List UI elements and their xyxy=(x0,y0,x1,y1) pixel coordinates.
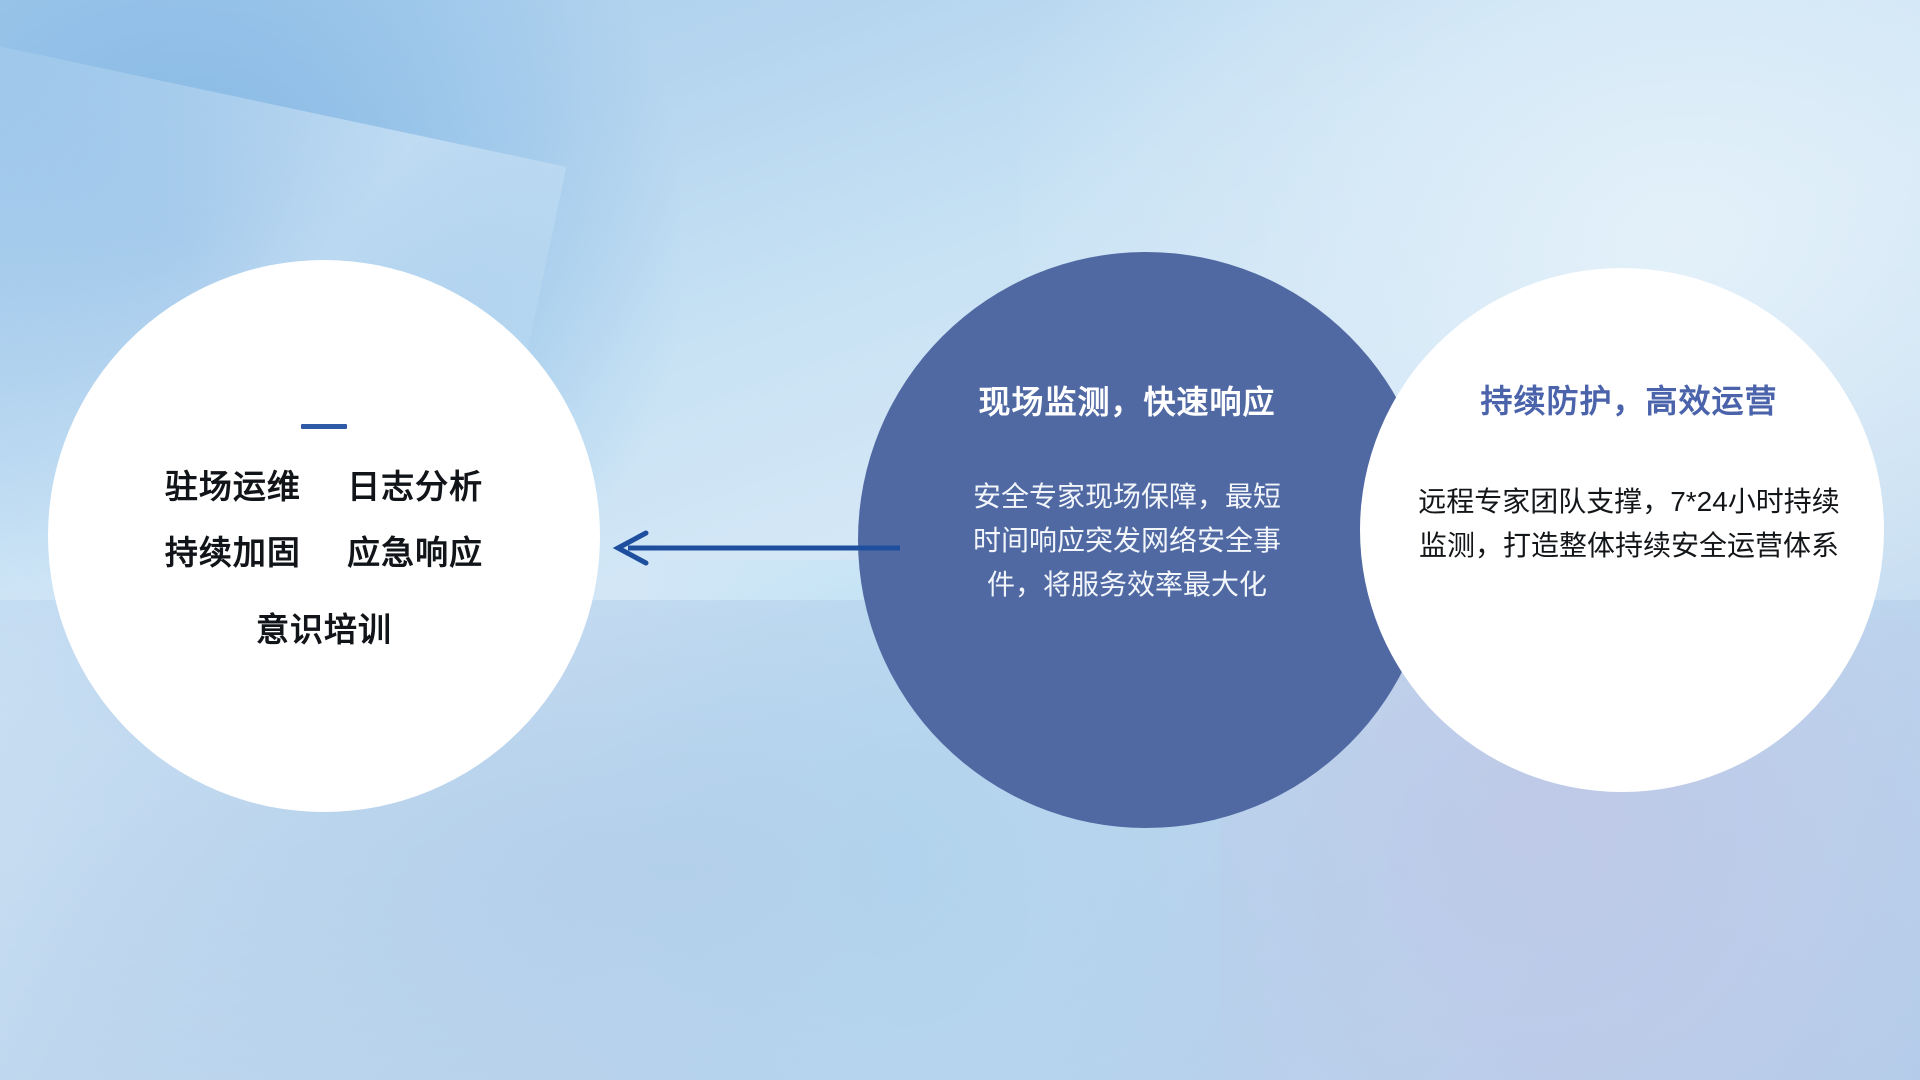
capability-label-emergency-response: 应急响应 xyxy=(347,534,483,571)
onsite-monitoring-circle: 现场监测，快速响应 安全专家现场保障，最短时间响应突发网络安全事件，将服务效率最… xyxy=(858,252,1434,828)
onsite-monitoring-description: 安全专家现场保障，最短时间响应突发网络安全事件，将服务效率最大化 xyxy=(970,475,1284,608)
continuous-protection-circle: 持续防护，高效运营 远程专家团队支撑，7*24小时持续监测，打造整体持续安全运营… xyxy=(1360,268,1884,792)
onsite-monitoring-title: 现场监测，快速响应 xyxy=(978,377,1275,423)
capabilities-circle: 驻场运维 日志分析 持续加固 应急响应 意识培训 xyxy=(48,260,600,812)
continuous-protection-title: 持续防护，高效运营 xyxy=(1480,376,1777,422)
continuous-protection-content: 持续防护，高效运营 远程专家团队支撑，7*24小时持续监测，打造整体持续安全运营… xyxy=(1360,268,1884,792)
dash-divider-icon xyxy=(301,424,347,429)
capability-label-continuous-hardening: 持续加固 xyxy=(165,534,301,571)
continuous-protection-description: 远程专家团队支撑，7*24小时持续监测，打造整体持续安全运营体系 xyxy=(1415,480,1843,568)
capabilities-content: 驻场运维 日志分析 持续加固 应急响应 意识培训 xyxy=(48,260,600,812)
capability-row-1: 驻场运维 日志分析 xyxy=(165,469,483,505)
capability-row-2: 持续加固 应急响应 xyxy=(165,535,483,571)
capability-label-awareness-training: 意识培训 xyxy=(256,612,392,648)
capability-label-log-analysis: 日志分析 xyxy=(347,468,483,505)
arrow-left-icon xyxy=(600,520,900,576)
capability-label-onsite-ops: 驻场运维 xyxy=(165,468,301,505)
flow-connector xyxy=(600,520,900,576)
diagram-canvas: 驻场运维 日志分析 持续加固 应急响应 意识培训 现场监测，快速响应 安全专家现… xyxy=(0,0,1920,1080)
onsite-monitoring-content: 现场监测，快速响应 安全专家现场保障，最短时间响应突发网络安全事件，将服务效率最… xyxy=(858,252,1434,828)
